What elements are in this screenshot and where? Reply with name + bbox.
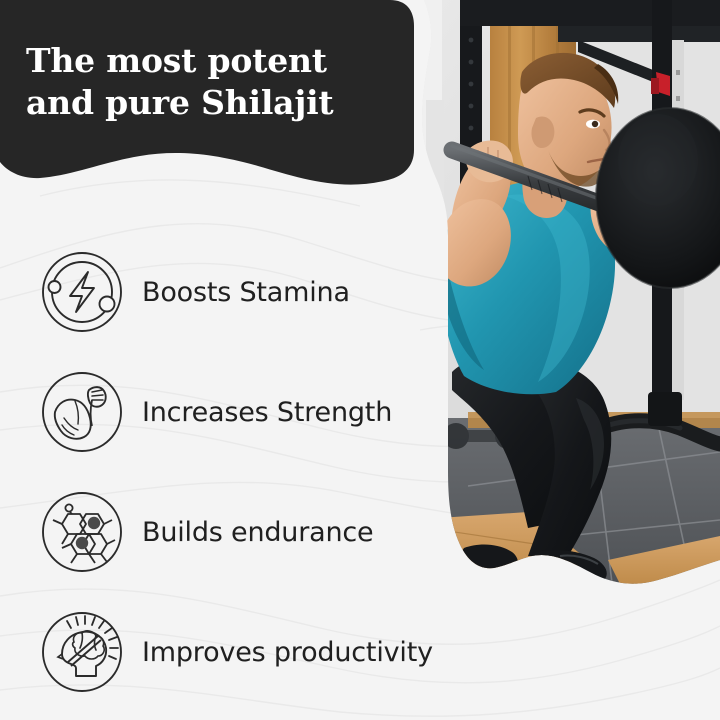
headline-line-1: The most potent [26, 40, 396, 82]
molecule-hexagon-icon [40, 490, 124, 574]
benefit-item-boosts-stamina[interactable]: Boosts Stamina [40, 232, 470, 352]
benefit-label: Boosts Stamina [142, 279, 350, 306]
benefit-label: Increases Strength [142, 399, 392, 426]
headline-line-2: and pure Shilajit [26, 82, 396, 124]
brain-head-idea-icon [40, 610, 124, 694]
page-title: The most potent and pure Shilajit [26, 40, 396, 124]
lightning-bolt-orbit-icon [40, 250, 124, 334]
benefit-item-improves-productivity[interactable]: Improves productivity [40, 592, 470, 712]
headline-banner: The most potent and pure Shilajit [0, 0, 430, 215]
benefit-label: Improves productivity [142, 639, 433, 666]
benefits-list: Boosts Stamina [40, 232, 470, 712]
benefit-label: Builds endurance [142, 519, 373, 546]
benefit-item-increases-strength[interactable]: Increases Strength [40, 352, 470, 472]
benefit-item-builds-endurance[interactable]: Builds endurance [40, 472, 470, 592]
infographic-canvas: The most potent and pure Shilajit Boosts… [0, 0, 720, 720]
flexed-bicep-icon [40, 370, 124, 454]
